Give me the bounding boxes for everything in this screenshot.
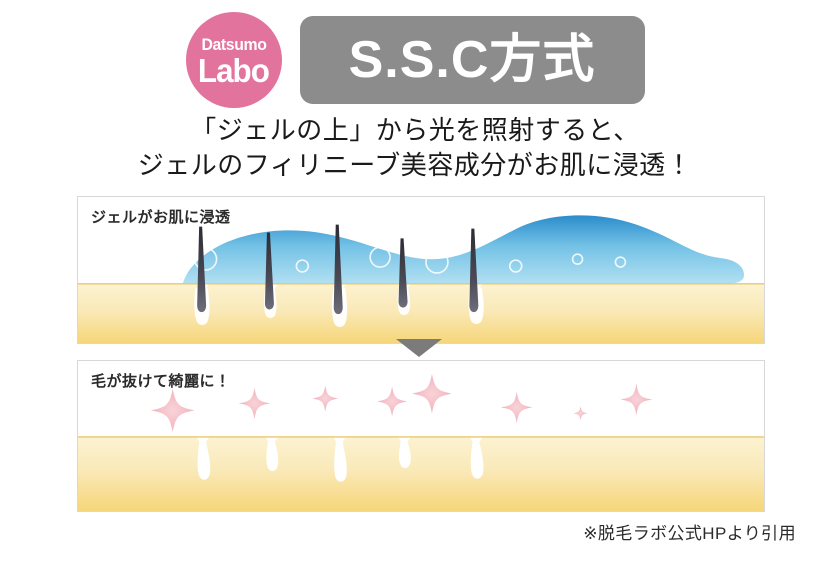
panel-clean-label: 毛が抜けて綺麗に！: [91, 370, 231, 391]
skin-layer: [78, 284, 764, 343]
datsumo-labo-logo: Datsumo Labo: [186, 12, 282, 108]
subtitle-line-2: ジェルのフィリニーブ美容成分がお肌に浸透！: [0, 148, 830, 183]
page-title: S.S.C方式: [349, 34, 596, 86]
diagram-panel-gel: ジェルがお肌に浸透: [77, 196, 765, 344]
down-arrow-icon: [396, 339, 442, 357]
header: Datsumo Labo S.S.C方式: [0, 8, 830, 112]
source-note: ※脱毛ラボ公式HPより引用: [583, 519, 796, 544]
logo-bottom-text: Labo: [198, 54, 269, 87]
panel-gel-label: ジェルがお肌に浸透: [91, 206, 231, 227]
logo-top-text: Datsumo: [201, 36, 266, 53]
infographic-page: Datsumo Labo S.S.C方式 「ジェルの上」から光を照射すると、 ジ…: [0, 0, 830, 561]
title-plate: S.S.C方式: [300, 16, 645, 104]
skin-layer-clean: [78, 437, 764, 511]
subtitle: 「ジェルの上」から光を照射すると、 ジェルのフィリニーブ美容成分がお肌に浸透！: [0, 113, 830, 182]
subtitle-line-1: 「ジェルの上」から光を照射すると、: [0, 113, 830, 148]
diagram-panel-clean: 毛が抜けて綺麗に！: [77, 360, 765, 512]
